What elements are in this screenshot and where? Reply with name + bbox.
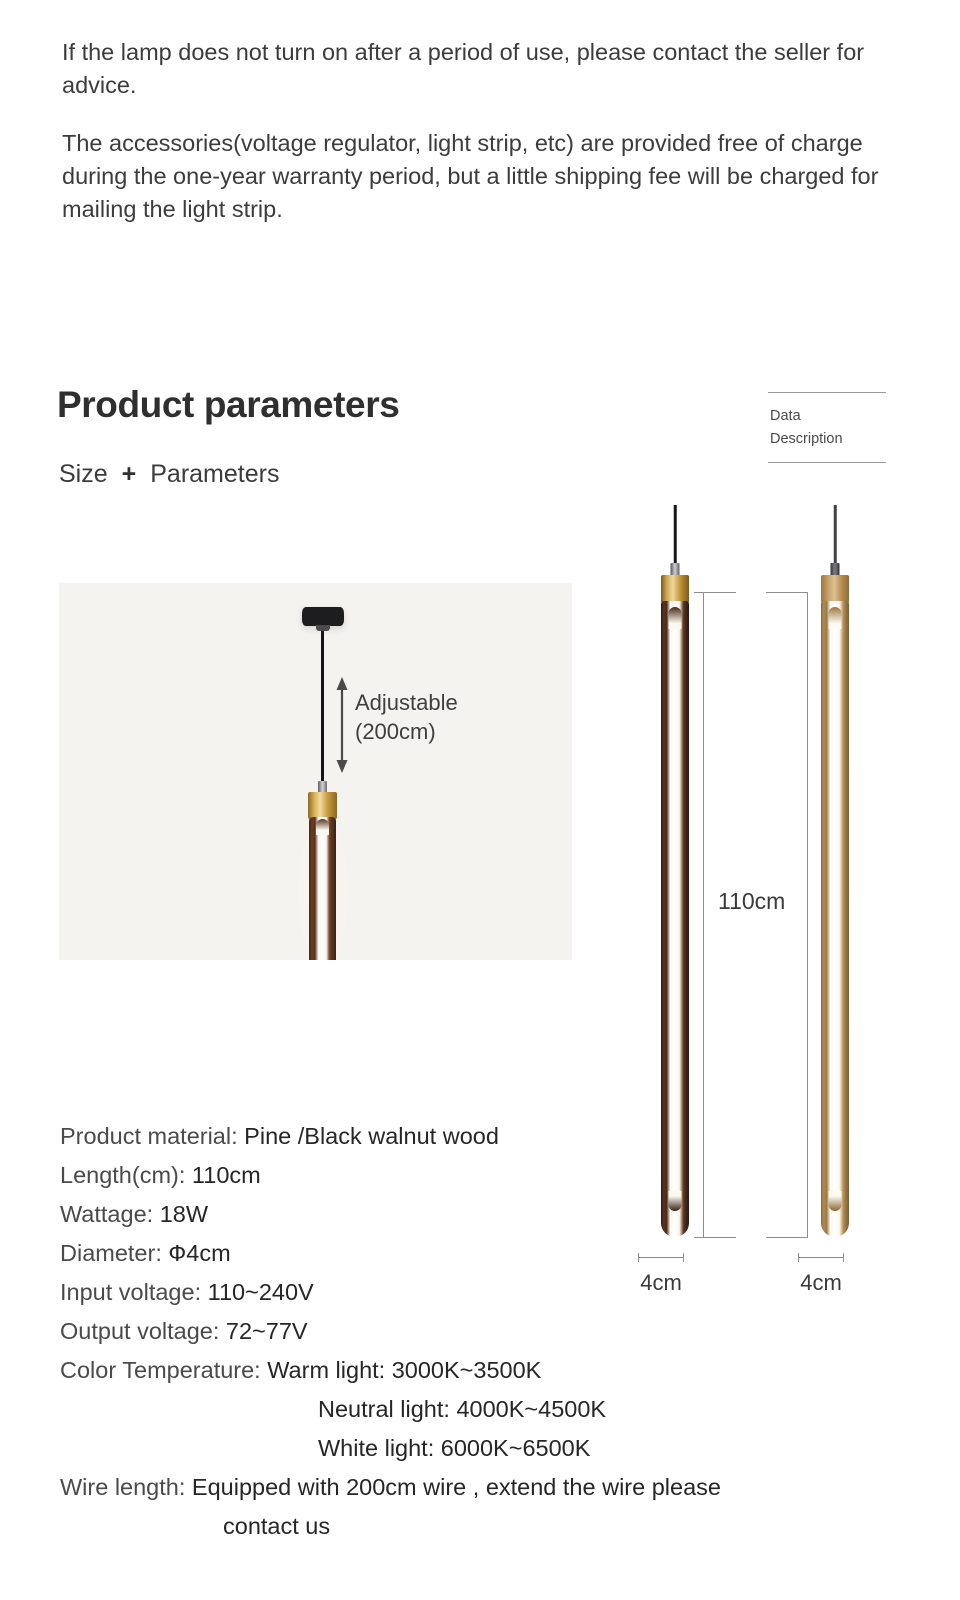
ceiling-canopy [302,607,344,626]
walnut-cord [674,505,677,567]
data-description-badge: Data Description [768,392,886,463]
subtitle-parameters-label: Parameters [150,460,279,489]
badge-line-2: Description [770,428,886,451]
spec-label: Product material: [60,1123,238,1149]
spec-value: contact us [223,1513,330,1539]
spec-row: Product material: Pine /Black walnut woo… [60,1117,890,1156]
spec-row: Wattage: 18W [60,1195,890,1234]
section-subtitle: Size + Parameters [59,460,279,489]
spec-row: White light: 6000K~6500K [60,1429,890,1468]
spec-value: 110~240V [208,1279,314,1305]
spec-value: Pine /Black walnut wood [244,1123,499,1149]
spec-row: Color Temperature: Warm light: 3000K~350… [60,1351,890,1390]
spec-row: Neutral light: 4000K~4500K [60,1390,890,1429]
spec-value: 110cm [192,1162,261,1188]
spec-value: 18W [160,1201,208,1227]
spec-row: Input voltage: 110~240V [60,1273,890,1312]
walnut-brass-collar [661,575,689,603]
spec-label: Color Temperature: [60,1357,261,1383]
spec-label: Diameter: [60,1240,162,1266]
spec-row: contact us [60,1507,890,1546]
photo-lamp-body [309,817,336,960]
subtitle-size-label: Size [59,460,108,489]
intro-text-block: If the lamp does not turn on after a per… [62,36,882,225]
product-photo-panel: Adjustable (200cm) [59,583,572,960]
spec-value: Ф4cm [168,1240,230,1266]
spec-value: White light: 6000K~6500K [318,1435,590,1461]
adjustable-value: (200cm) [355,717,458,746]
spec-row: Output voltage: 72~77V [60,1312,890,1351]
spec-value: Neutral light: 4000K~4500K [318,1396,606,1422]
photo-hanging-cord [321,631,324,795]
spec-value: 72~77V [226,1318,308,1344]
adjustable-label: Adjustable [355,688,458,717]
spec-label: Input voltage: [60,1279,201,1305]
spec-row: Diameter: Ф4cm [60,1234,890,1273]
spec-label: Output voltage: [60,1318,219,1344]
height-dimension-label: 110cm [718,888,785,915]
badge-rule-bottom [768,462,886,463]
spec-value: Warm light: 3000K~3500K [267,1357,541,1383]
pine-height-tick-top [766,592,808,593]
spec-value: Equipped with 200cm wire , extend the wi… [192,1474,721,1500]
spec-row: Length(cm): 110cm [60,1156,890,1195]
intro-paragraph-2: The accessories(voltage regulator, light… [62,127,882,225]
pine-cord [834,505,837,567]
walnut-height-tick-top [694,592,736,593]
badge-text: Data Description [768,393,886,462]
adjustable-annotation: Adjustable (200cm) [355,688,458,746]
pine-brass-collar [821,575,849,603]
spec-label: Wattage: [60,1201,153,1227]
specification-list: Product material: Pine /Black walnut woo… [60,1117,890,1546]
badge-line-1: Data [770,405,886,428]
photo-brass-collar [308,792,337,819]
adjustable-arrow-icon [329,677,355,773]
spec-label: Wire length: [60,1474,185,1500]
spec-label: Length(cm): [60,1162,185,1188]
spec-row: Wire length: Equipped with 200cm wire , … [60,1468,890,1507]
page-title: Product parameters [57,384,399,426]
intro-paragraph-1: If the lamp does not turn on after a per… [62,36,882,101]
plus-icon: + [122,460,137,489]
